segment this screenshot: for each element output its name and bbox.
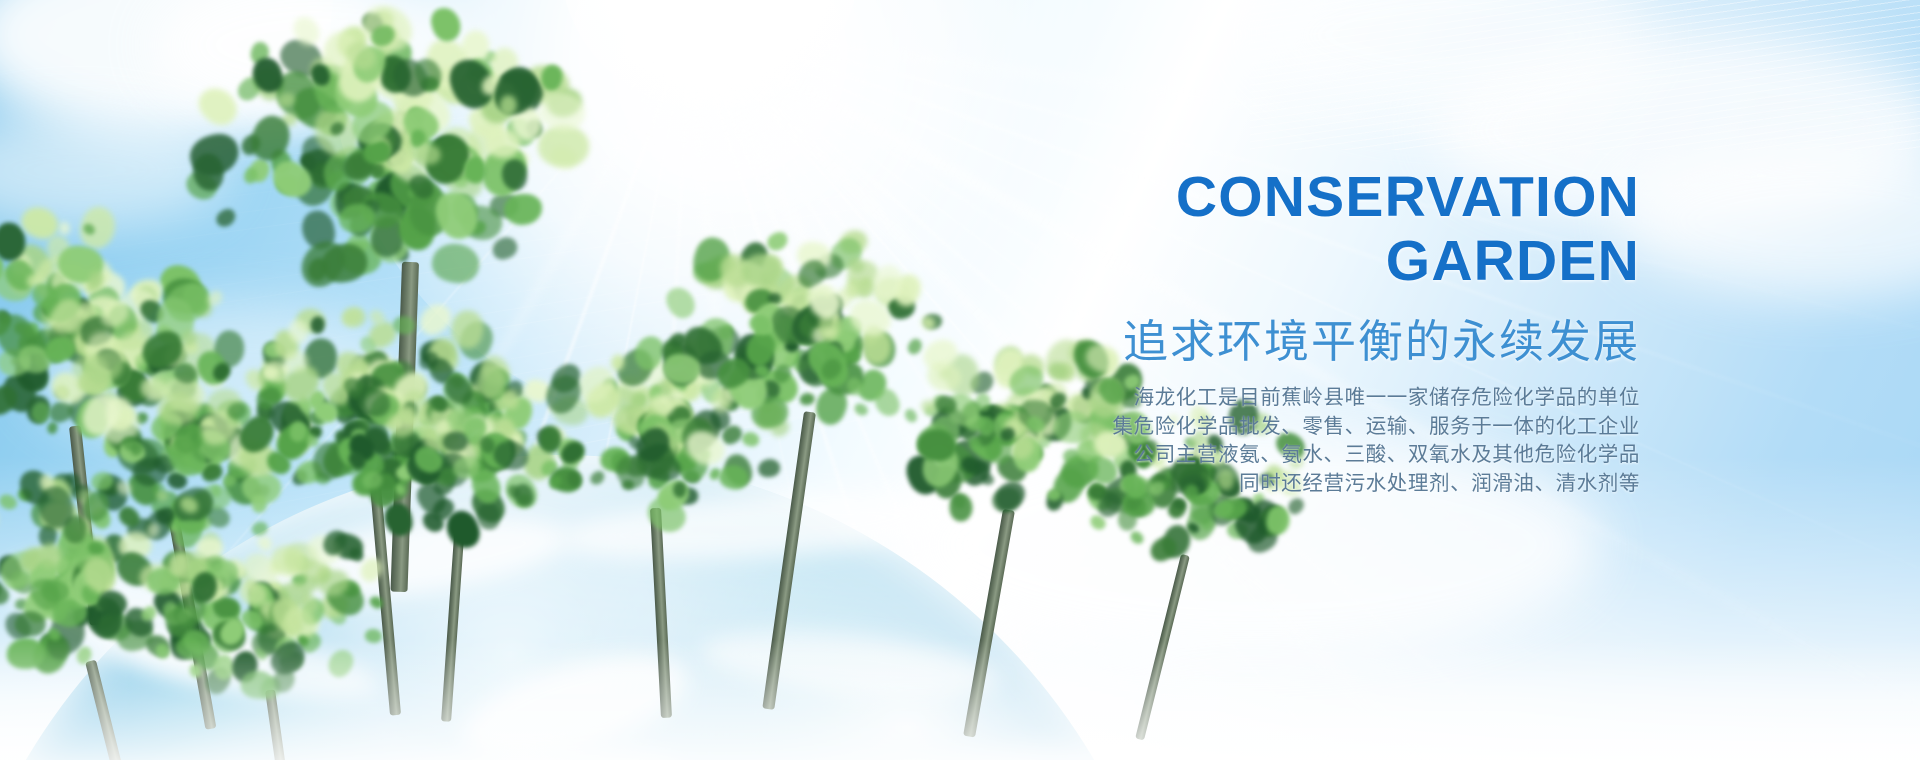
sky-hatch-texture [1250, 0, 1920, 150]
tree-foliage [138, 603, 159, 624]
description-line: 公司主营液氨、氨水、三酸、双氧水及其他危险化学品 [880, 441, 1640, 470]
tree-foliage [368, 594, 385, 611]
tree-foliage [427, 5, 463, 45]
tagline: 追求环境平衡的永续发展 [880, 314, 1640, 370]
tree-foliage [293, 232, 354, 294]
description-line: 同时还经营污水处理剂、润滑油、清水剂等 [880, 470, 1640, 499]
tree-foliage [799, 392, 815, 405]
tree-foliage [489, 234, 520, 262]
tree-foliage [59, 222, 70, 235]
hero-banner: CONSERVATION GARDEN 追求环境平衡的永续发展 海龙化工是目前蕉… [0, 0, 1920, 760]
description-block: 海龙化工是目前蕉岭县唯一一家储存危险化学品的单位 集危险化学品批发、零售、运输、… [880, 384, 1640, 498]
tree-foliage [255, 533, 274, 553]
headline-line-1: CONSERVATION [1176, 165, 1640, 229]
tree-foliage [0, 492, 19, 513]
bottom-fade [0, 640, 1920, 760]
headline-line-2: GARDEN [880, 229, 1640, 293]
tree-foliage [587, 469, 606, 487]
tree-foliage [178, 493, 202, 516]
tree-foliage [30, 400, 52, 425]
tree-foliage [428, 239, 483, 287]
tree-foliage [192, 80, 244, 132]
tree-foliage [250, 520, 269, 537]
tree-foliage [504, 194, 542, 225]
tree-foliage [113, 477, 134, 498]
hero-text-block: CONSERVATION GARDEN 追求环境平衡的永续发展 海龙化工是目前蕉… [880, 165, 1640, 498]
tree-foliage [154, 489, 170, 504]
description-line: 集危险化学品批发、零售、运输、服务于一体的化工企业 [880, 413, 1640, 442]
tree-foliage [414, 299, 456, 340]
description-line: 海龙化工是目前蕉岭县唯一一家储存危险化学品的单位 [880, 384, 1640, 413]
page-title: CONSERVATION GARDEN [880, 165, 1640, 293]
tree-foliage [852, 401, 870, 418]
tree-foliage [662, 283, 700, 323]
tree-foliage [765, 230, 791, 254]
tree-foliage [1128, 529, 1145, 546]
tree-foliage [477, 502, 500, 530]
